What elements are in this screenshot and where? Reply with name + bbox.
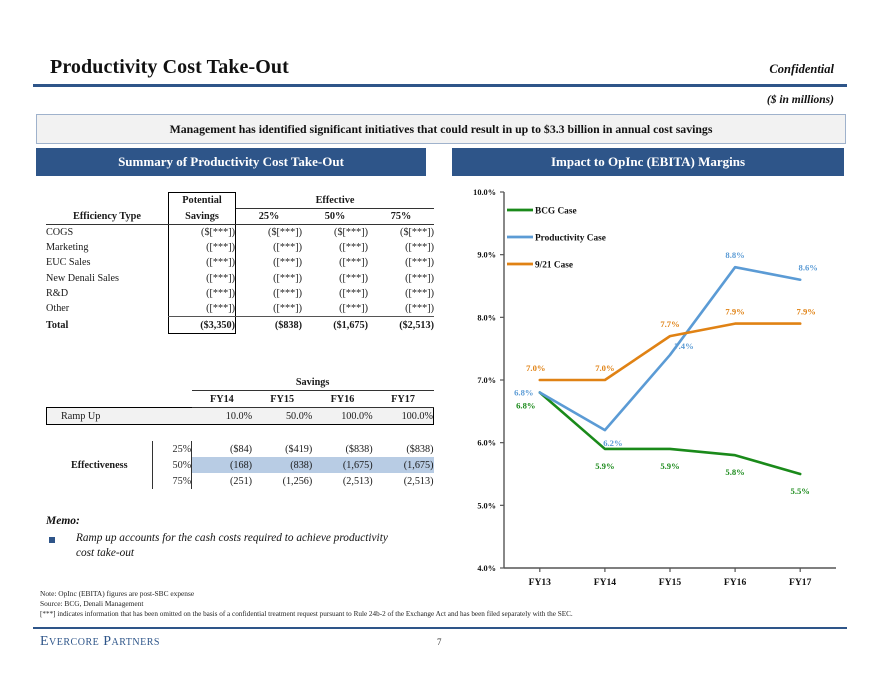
svg-text:5.9%: 5.9% <box>660 461 679 471</box>
cell-e25: ([***]) <box>236 240 303 255</box>
table-row: EUC Sales ([***]) ([***]) ([***]) ([***]… <box>46 255 434 270</box>
efficiency-table: Potential Effective Efficiency Type Savi… <box>46 192 434 334</box>
savings-table: Savings FY14 FY15 FY16 FY17 Ramp Up 10.0… <box>46 374 434 489</box>
cell-fy15: ($419) <box>252 441 312 457</box>
col-efficiency-type: Efficiency Type <box>46 208 169 224</box>
section-banner-right: Impact to OpInc (EBITA) Margins <box>452 148 844 176</box>
spacer-cell <box>47 391 153 408</box>
cell-fy16: ($838) <box>312 441 372 457</box>
effectiveness-pct: 75% <box>153 473 192 489</box>
callout-banner: Management has identified significant in… <box>36 114 846 144</box>
svg-text:7.9%: 7.9% <box>725 307 744 317</box>
svg-text:6.8%: 6.8% <box>516 401 535 411</box>
header-rule <box>33 84 847 87</box>
cell-e75: ([***]) <box>368 270 434 285</box>
cell-e75: ([***]) <box>368 240 434 255</box>
cell-potential: ([***]) <box>169 301 236 317</box>
brand-logo: Evercore Partners <box>40 634 160 650</box>
svg-text:7.9%: 7.9% <box>797 307 816 317</box>
svg-text:5.0%: 5.0% <box>477 501 496 510</box>
svg-text:BCG Case: BCG Case <box>535 206 577 216</box>
memo-title: Memo: <box>46 515 80 527</box>
cell-fy14: (168) <box>192 457 252 473</box>
cell-fy15: (1,256) <box>252 473 312 489</box>
svg-text:7.0%: 7.0% <box>477 376 496 385</box>
section-banner-right-label: Impact to OpInc (EBITA) Margins <box>551 154 745 170</box>
svg-text:7.0%: 7.0% <box>595 363 614 373</box>
ramp-up-row: Ramp Up 10.0% 50.0% 100.0% 100.0% <box>47 408 434 425</box>
group-potential-label: Potential <box>169 193 236 209</box>
savings-header-year-row: FY14 FY15 FY16 FY17 <box>47 391 434 408</box>
cell-e25: ([***]) <box>236 286 303 301</box>
cell-fy14: (251) <box>192 473 252 489</box>
cell-fy14: ($84) <box>192 441 252 457</box>
svg-text:10.0%: 10.0% <box>473 188 496 197</box>
spacer-cell <box>153 391 192 408</box>
row-label: Other <box>46 301 169 317</box>
table-row: Other ([***]) ([***]) ([***]) ([***]) <box>46 301 434 317</box>
svg-text:FY15: FY15 <box>659 577 682 588</box>
svg-text:5.9%: 5.9% <box>595 461 614 471</box>
cell-fy17: (1,675) <box>373 457 434 473</box>
cell-potential: ([***]) <box>169 240 236 255</box>
cell-e25: ([***]) <box>236 270 303 285</box>
cell-e25: ([***]) <box>236 301 303 317</box>
cell-potential: ([***]) <box>169 255 236 270</box>
group-effective-label: Effective <box>236 193 435 209</box>
svg-text:8.0%: 8.0% <box>477 313 496 322</box>
svg-text:FY16: FY16 <box>724 577 747 588</box>
svg-text:5.8%: 5.8% <box>725 467 744 477</box>
cell-e75: ([***]) <box>368 301 434 317</box>
group-savings-label: Savings <box>192 374 434 391</box>
svg-text:FY14: FY14 <box>594 577 617 588</box>
row-label: New Denali Sales <box>46 270 169 285</box>
cell-e75: ($[***]) <box>368 224 434 240</box>
section-banner-left-label: Summary of Productivity Cost Take-Out <box>118 154 344 170</box>
savings-header-group-row: Savings <box>47 374 434 391</box>
effectiveness-pct: 50% <box>153 457 192 473</box>
cell-e50: ([***]) <box>302 301 368 317</box>
svg-text:6.0%: 6.0% <box>477 439 496 448</box>
confidential-label: Confidential <box>769 62 834 77</box>
footer-rule <box>33 627 847 629</box>
svg-text:6.8%: 6.8% <box>514 388 533 398</box>
ramp-up-label: Ramp Up <box>47 408 153 425</box>
row-label: COGS <box>46 224 169 240</box>
cell-potential: ($[***]) <box>169 224 236 240</box>
col-potential-savings: Savings <box>169 208 236 224</box>
col-effective-50: 50% <box>302 208 368 224</box>
row-label: Marketing <box>46 240 169 255</box>
ramp-fy17: 100.0% <box>373 408 434 425</box>
cell-e50: ([***]) <box>302 270 368 285</box>
margin-chart: 4.0%5.0%6.0%7.0%8.0%9.0%10.0%FY13FY14FY1… <box>452 182 844 600</box>
page-title: Productivity Cost Take-Out <box>50 56 289 79</box>
callout-text: Management has identified significant in… <box>170 122 713 137</box>
table-row: COGS ($[***]) ($[***]) ($[***]) ($[***]) <box>46 224 434 240</box>
table-row: Marketing ([***]) ([***]) ([***]) ([***]… <box>46 240 434 255</box>
svg-text:4.0%: 4.0% <box>477 564 496 573</box>
col-fy16: FY16 <box>312 391 372 408</box>
cell-fy16: (1,675) <box>312 457 372 473</box>
ramp-fy16: 100.0% <box>312 408 372 425</box>
footnote-note: Note: OpInc (EBITA) figures are post-SBC… <box>40 589 194 598</box>
total-label: Total <box>46 317 169 334</box>
page-number: 7 <box>437 637 442 647</box>
table-total-row: Total ($3,350) ($838) ($1,675) ($2,513) <box>46 317 434 334</box>
spacer-cell <box>153 408 192 425</box>
memo-bullet-icon <box>49 537 55 543</box>
table-header-row-cols: Efficiency Type Savings 25% 50% 75% <box>46 208 434 224</box>
svg-text:7.7%: 7.7% <box>660 319 679 329</box>
cell-e75: ([***]) <box>368 286 434 301</box>
table-row: R&D ([***]) ([***]) ([***]) ([***]) <box>46 286 434 301</box>
cell-fy15: (838) <box>252 457 312 473</box>
spacer-cell <box>153 374 192 391</box>
col-effective-25: 25% <box>236 208 303 224</box>
ramp-fy14: 10.0% <box>192 408 252 425</box>
cell-e25: ($[***]) <box>236 224 303 240</box>
cell-fy16: (2,513) <box>312 473 372 489</box>
col-fy17: FY17 <box>373 391 434 408</box>
cell-e50: ($[***]) <box>302 224 368 240</box>
row-label: R&D <box>46 286 169 301</box>
units-label: ($ in millions) <box>767 94 834 106</box>
effectiveness-label: Effectiveness <box>47 441 153 489</box>
col-effective-75: 75% <box>368 208 434 224</box>
svg-text:FY13: FY13 <box>529 577 552 588</box>
cell-e50: ([***]) <box>302 286 368 301</box>
cell-e50: ([***]) <box>302 255 368 270</box>
slide: Productivity Cost Take-Out Confidential … <box>0 0 880 680</box>
spacer-row <box>47 425 434 442</box>
cell-fy17: (2,513) <box>373 473 434 489</box>
cell-e25: ([***]) <box>236 255 303 270</box>
col-fy15: FY15 <box>252 391 312 408</box>
memo-text: Ramp up accounts for the cash costs requ… <box>76 531 406 561</box>
ramp-fy15: 50.0% <box>252 408 312 425</box>
col-fy14: FY14 <box>192 391 252 408</box>
spacer-cell <box>47 374 153 391</box>
cell-potential: ([***]) <box>169 270 236 285</box>
svg-text:FY17: FY17 <box>789 577 812 588</box>
cell-e75: ([***]) <box>368 255 434 270</box>
total-e75: ($2,513) <box>368 317 434 334</box>
row-label: EUC Sales <box>46 255 169 270</box>
footnote-source: Source: BCG, Denali Management <box>40 599 143 608</box>
total-e50: ($1,675) <box>302 317 368 334</box>
table-row: New Denali Sales ([***]) ([***]) ([***])… <box>46 270 434 285</box>
effectiveness-row: Effectiveness 25% ($84) ($419) ($838) ($… <box>47 441 434 457</box>
svg-text:8.8%: 8.8% <box>725 250 744 260</box>
svg-text:8.6%: 8.6% <box>799 263 818 273</box>
svg-text:Productivity Case: Productivity Case <box>535 233 606 243</box>
svg-text:7.0%: 7.0% <box>526 363 545 373</box>
chart-svg: 4.0%5.0%6.0%7.0%8.0%9.0%10.0%FY13FY14FY1… <box>452 182 844 600</box>
effectiveness-pct: 25% <box>153 441 192 457</box>
table-header-row-groups: Potential Effective <box>46 193 434 209</box>
cell-e50: ([***]) <box>302 240 368 255</box>
svg-text:7.4%: 7.4% <box>674 341 693 351</box>
cell-potential: ([***]) <box>169 286 236 301</box>
section-banner-left: Summary of Productivity Cost Take-Out <box>36 148 426 176</box>
svg-text:6.2%: 6.2% <box>603 438 622 448</box>
footnote-legal: [***] indicates information that has bee… <box>40 610 573 618</box>
svg-text:9.0%: 9.0% <box>477 251 496 260</box>
spacer-cell <box>46 193 169 209</box>
svg-text:5.5%: 5.5% <box>791 486 810 496</box>
svg-text:9/21 Case: 9/21 Case <box>535 260 573 270</box>
cell-fy17: ($838) <box>373 441 434 457</box>
total-e25: ($838) <box>236 317 303 334</box>
total-potential: ($3,350) <box>169 317 236 334</box>
